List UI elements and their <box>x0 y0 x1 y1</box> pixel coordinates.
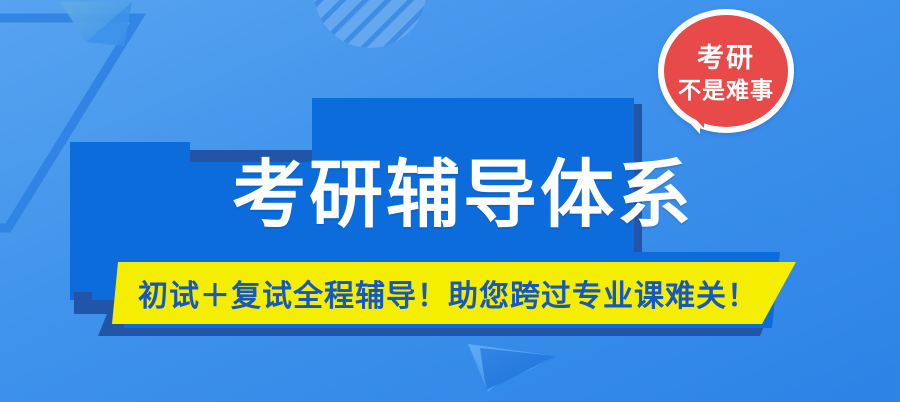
badge-speech-bubble <box>658 9 794 134</box>
page-title: 考研辅导体系 <box>232 152 702 238</box>
subtitle-text: 初试＋复试全程辅导！助您跨过专业课难关！ <box>138 265 758 321</box>
promo-banner: 考研辅导体系 初试＋复试全程辅导！助您跨过专业课难关！ 考研 不是难事 <box>0 0 900 402</box>
